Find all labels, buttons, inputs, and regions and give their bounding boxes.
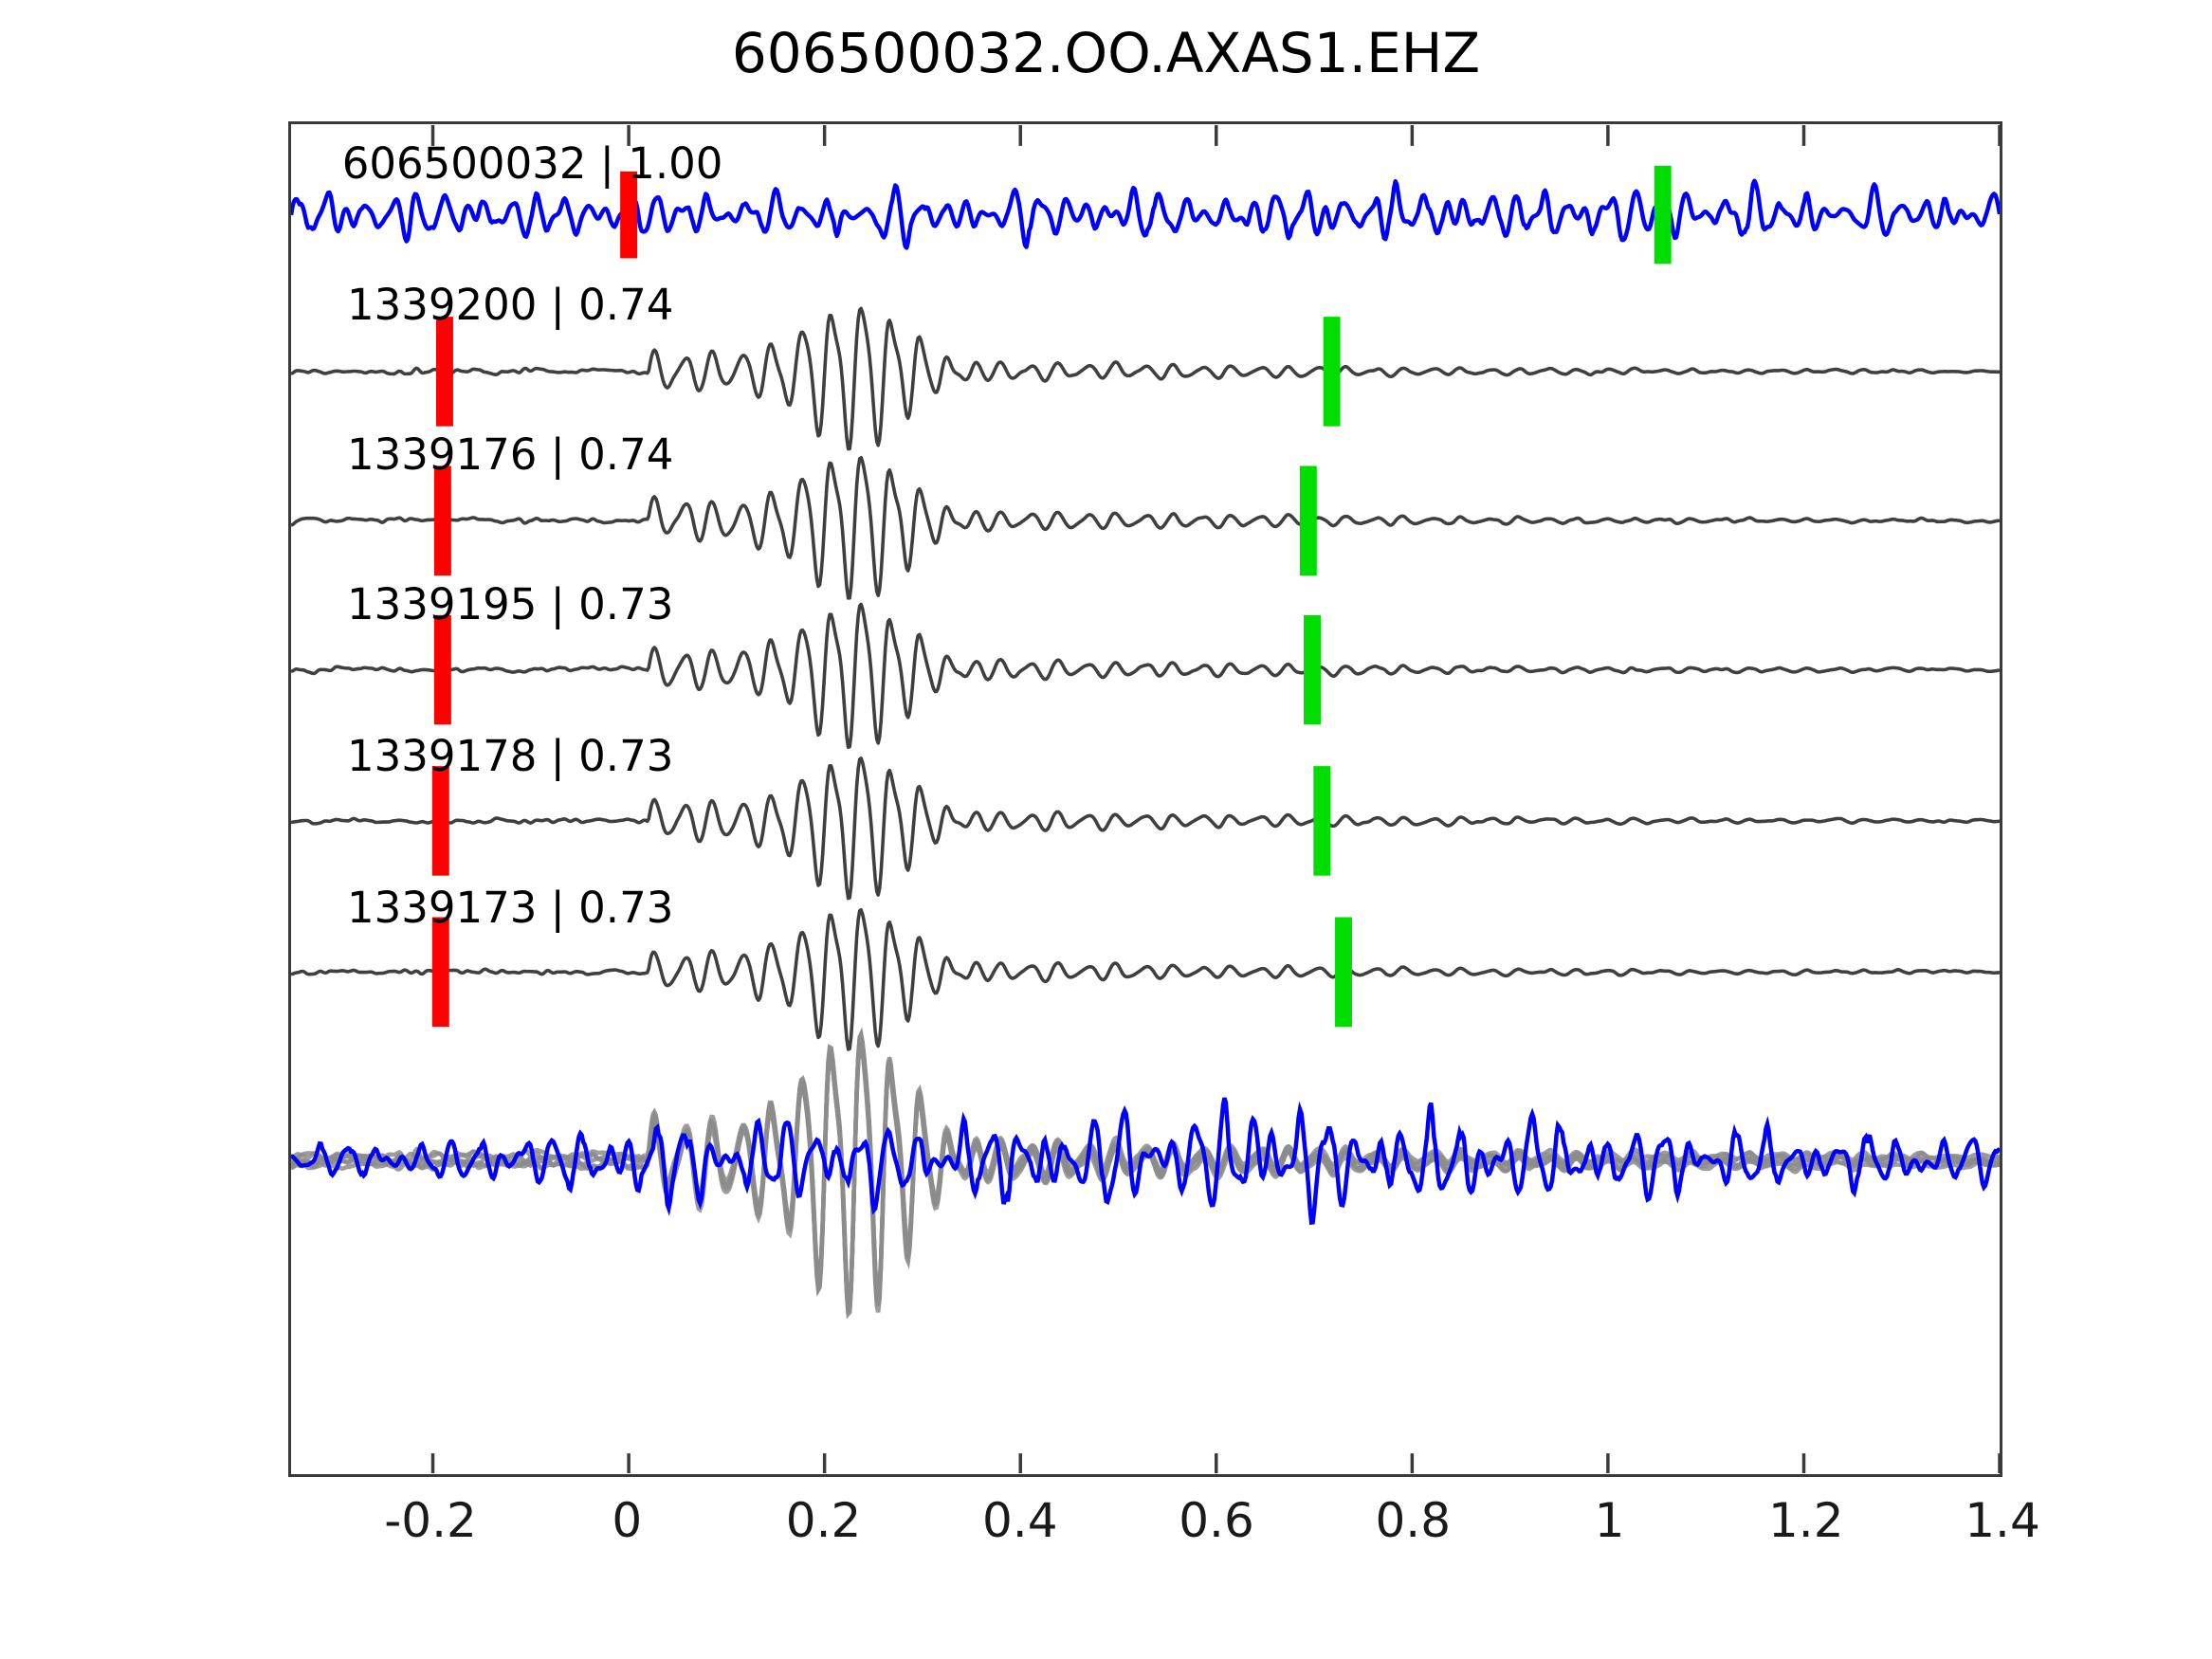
s-pick-marker-1339200 [1324,317,1341,427]
trace-label-1339173: 1339173 | 0.73 [347,883,673,933]
x-tick-label-6: 1 [1595,1493,1625,1548]
x-tick-label-5: 0.8 [1376,1493,1452,1548]
s-pick-marker-1339178 [1313,766,1330,876]
x-tick-label-1: 0 [612,1493,642,1548]
x-tick-label-7: 1.2 [1768,1493,1844,1548]
x-axis-tick-labels: -0.200.20.40.60.811.21.4 [288,1493,2002,1569]
x-tick-label-8: 1.4 [1965,1493,2040,1548]
trace-label-1339176: 1339176 | 0.74 [347,429,673,480]
s-pick-marker-1339176 [1300,465,1317,575]
seismic-waveform-figure: 606500032.OO.AXAS1.EHZ 606500032 | 1.001… [0,0,2212,1659]
x-tick-label-0: -0.2 [384,1493,477,1548]
s-pick-marker-606500032 [1654,166,1672,264]
trace-label-1339178: 1339178 | 0.73 [347,731,673,781]
stack-detection-waveform [291,1037,2000,1307]
p-pick-marker-1339200 [436,317,453,427]
stack-trace-group [291,1034,2000,1315]
page-title: 606500032.OO.AXAS1.EHZ [0,21,2212,85]
s-pick-marker-1339195 [1304,615,1321,725]
trace-label-606500032: 606500032 | 1.00 [342,138,723,189]
stack-template-waveform [291,1098,2000,1222]
p-pick-marker-1339173 [432,917,449,1027]
trace-label-1339200: 1339200 | 0.74 [347,280,673,330]
p-pick-marker-1339178 [432,766,449,876]
x-tick-label-2: 0.2 [786,1493,862,1548]
stack-detection-waveform [291,1045,2000,1313]
stack-detection-waveform [291,1042,2000,1311]
s-pick-marker-1339173 [1335,917,1352,1027]
stack-detection-waveform [291,1042,2000,1314]
trace-label-1339195: 1339195 | 0.73 [347,579,673,629]
p-pick-marker-1339195 [434,615,451,725]
stack-detection-waveform [291,1034,2000,1309]
x-tick-label-3: 0.4 [982,1493,1058,1548]
x-tick-label-4: 0.6 [1179,1493,1254,1548]
waveform-line-606500032 [291,181,2000,248]
p-pick-marker-1339176 [434,465,451,575]
